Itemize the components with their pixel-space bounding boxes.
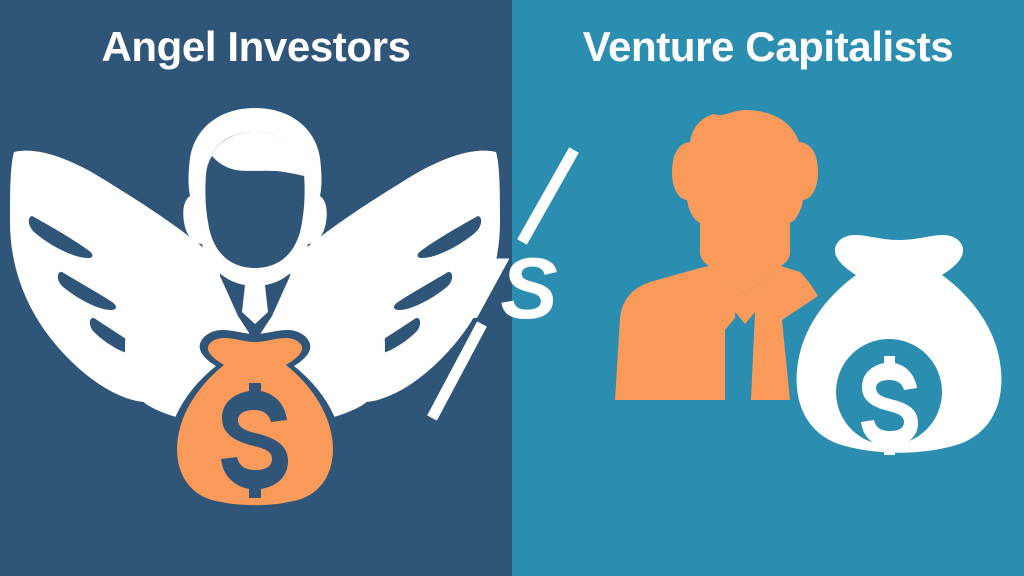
vs-label: VS <box>446 244 556 334</box>
comparison-graphic: VS Angel Investors Venture Capitalists <box>0 0 1024 576</box>
right-panel <box>512 0 1024 576</box>
left-panel-title: Angel Investors <box>0 24 512 70</box>
vs-badge: VS <box>446 244 556 336</box>
left-panel <box>0 0 512 576</box>
right-panel-title: Venture Capitalists <box>512 24 1024 70</box>
